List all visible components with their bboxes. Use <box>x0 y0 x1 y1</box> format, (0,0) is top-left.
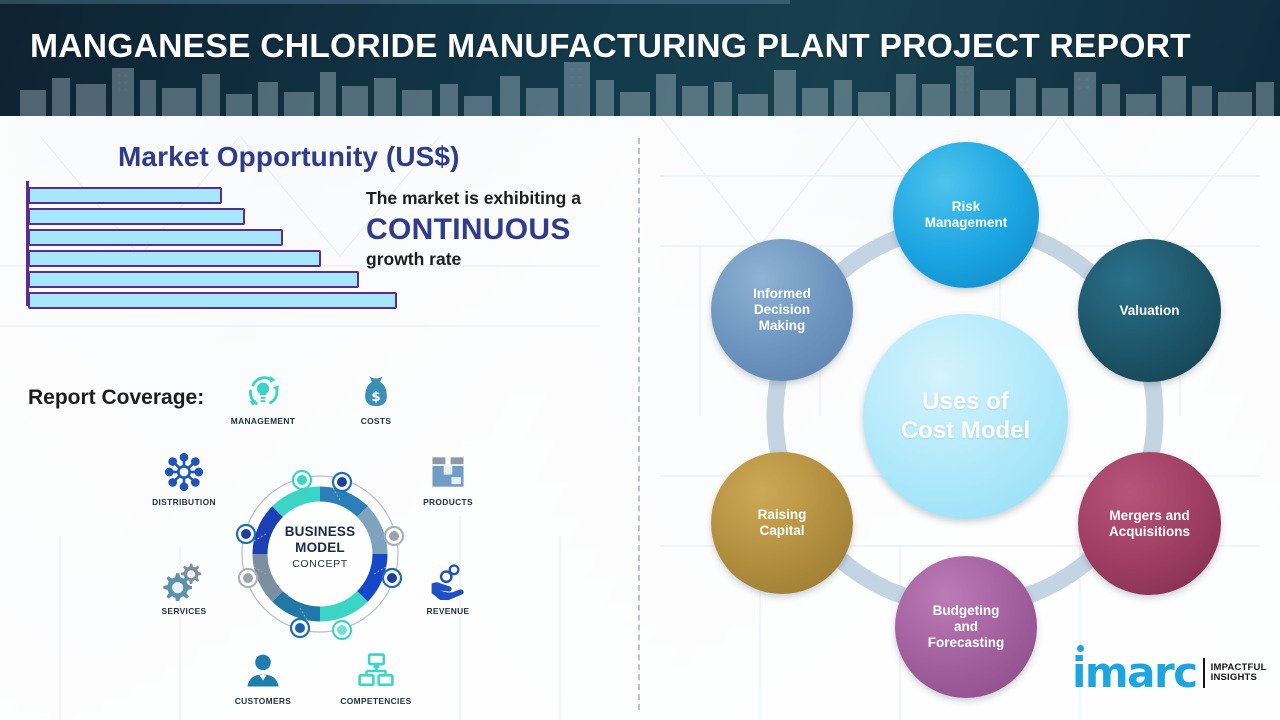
hand-coins-icon <box>400 558 496 604</box>
node-budgeting-line-3: Forecasting <box>922 635 1011 651</box>
coverage-item-revenue: REVENUE <box>400 558 496 616</box>
bar-1 <box>28 187 222 204</box>
svg-text:$: $ <box>371 390 380 405</box>
panel-divider <box>638 138 640 710</box>
user-person-icon <box>215 648 311 694</box>
node-raising-capital-line-2: Capital <box>753 523 810 539</box>
bar-4 <box>28 250 321 267</box>
center-node-line-1: Uses of <box>916 388 1015 416</box>
node-budgeting-line-2: and <box>948 619 984 635</box>
node-risk-management-line-2: Management <box>919 215 1014 231</box>
bm-center-line-2: MODEL <box>230 540 410 556</box>
node-informed-line-1: Informed <box>747 286 817 302</box>
coverage-label-management: MANAGEMENT <box>215 416 311 426</box>
coverage-label-costs: COSTS <box>328 416 424 426</box>
imarc-logo-tagline: IMPACTFUL INSIGHTS <box>1211 663 1267 684</box>
coverage-item-costs: $ COSTS <box>328 368 424 426</box>
coverage-label-customers: CUSTOMERS <box>215 696 311 706</box>
coverage-label-revenue: REVENUE <box>400 606 496 616</box>
imarc-logo-wordmark: imarc <box>1072 656 1197 690</box>
node-risk-management-line-1: Risk <box>946 199 987 215</box>
recycle-lightbulb-icon <box>215 368 311 414</box>
org-chart-icon <box>328 648 424 694</box>
node-informed-decision-making[interactable]: Informed Decision Making <box>711 239 853 381</box>
node-informed-line-2: Decision <box>748 302 816 318</box>
coverage-item-customers: CUSTOMERS <box>215 648 311 706</box>
node-mergers-line-2: Acquisitions <box>1103 524 1196 540</box>
node-raising-capital[interactable]: Raising Capital <box>711 452 853 594</box>
page-header: MANGANESE CHLORIDE MANUFACTURING PLANT P… <box>0 0 1280 116</box>
market-opportunity-title: Market Opportunity (US$) <box>118 141 460 173</box>
box-package-icon <box>400 449 496 495</box>
center-node-uses-of-cost-model[interactable]: Uses of Cost Model <box>863 314 1068 519</box>
growth-line-3: growth rate <box>366 249 634 270</box>
bar-6 <box>28 292 397 309</box>
bar-3 <box>28 229 283 246</box>
growth-statement: The market is exhibiting a CONTINUOUS gr… <box>366 188 634 270</box>
node-mergers-and-acquisitions[interactable]: Mergers and Acquisitions <box>1078 452 1221 595</box>
slide-body: Market Opportunity (US$) The market is e… <box>0 116 1280 720</box>
bm-center-line-1: BUSINESS <box>230 524 410 540</box>
coverage-item-products: PRODUCTS <box>400 449 496 507</box>
page-title: MANGANESE CHLORIDE MANUFACTURING PLANT P… <box>30 27 1191 65</box>
gears-icon <box>136 558 232 604</box>
coverage-item-distribution: DISTRIBUTION <box>136 449 232 507</box>
coverage-item-services: SERVICES <box>136 558 232 616</box>
coverage-item-competencies: COMPETENCIES <box>328 648 424 706</box>
header-top-strip <box>0 0 790 4</box>
node-mergers-line-1: Mergers and <box>1103 508 1195 524</box>
bar-2 <box>28 208 245 225</box>
bar-5 <box>28 271 359 288</box>
node-budgeting-line-1: Budgeting <box>927 603 1006 619</box>
coverage-label-distribution: DISTRIBUTION <box>136 497 232 507</box>
growth-line-1: The market is exhibiting a <box>366 188 634 210</box>
coverage-item-management: MANAGEMENT <box>215 368 311 426</box>
money-bag-icon: $ <box>328 368 424 414</box>
business-model-center-label: BUSINESS MODEL CONCEPT <box>230 464 410 644</box>
node-valuation-line-1: Valuation <box>1113 303 1185 319</box>
center-node-line-2: Cost Model <box>895 417 1036 445</box>
imarc-logo[interactable]: imarc IMPACTFUL INSIGHTS <box>1072 656 1267 690</box>
coverage-label-competencies: COMPETENCIES <box>328 696 424 706</box>
bm-center-line-3: CONCEPT <box>230 558 410 570</box>
network-nodes-icon <box>136 449 232 495</box>
market-opportunity-bar-chart <box>26 181 406 306</box>
coverage-label-services: SERVICES <box>136 606 232 616</box>
uses-of-cost-model-diagram: Uses of Cost Model Risk Management Valua… <box>660 126 1260 706</box>
coverage-label-products: PRODUCTS <box>400 497 496 507</box>
node-budgeting-and-forecasting[interactable]: Budgeting and Forecasting <box>895 556 1037 698</box>
node-valuation[interactable]: Valuation <box>1078 239 1221 382</box>
imarc-logo-dot <box>1077 645 1084 652</box>
node-risk-management[interactable]: Risk Management <box>893 142 1039 288</box>
node-informed-line-3: Making <box>753 318 812 334</box>
business-model-diagram: BUSINESS MODEL CONCEPT <box>140 368 500 704</box>
node-raising-capital-line-1: Raising <box>752 507 813 523</box>
imarc-logo-divider <box>1203 658 1205 688</box>
imarc-tagline-line-2: INSIGHTS <box>1211 673 1267 684</box>
growth-emphasis: CONTINUOUS <box>366 210 634 250</box>
